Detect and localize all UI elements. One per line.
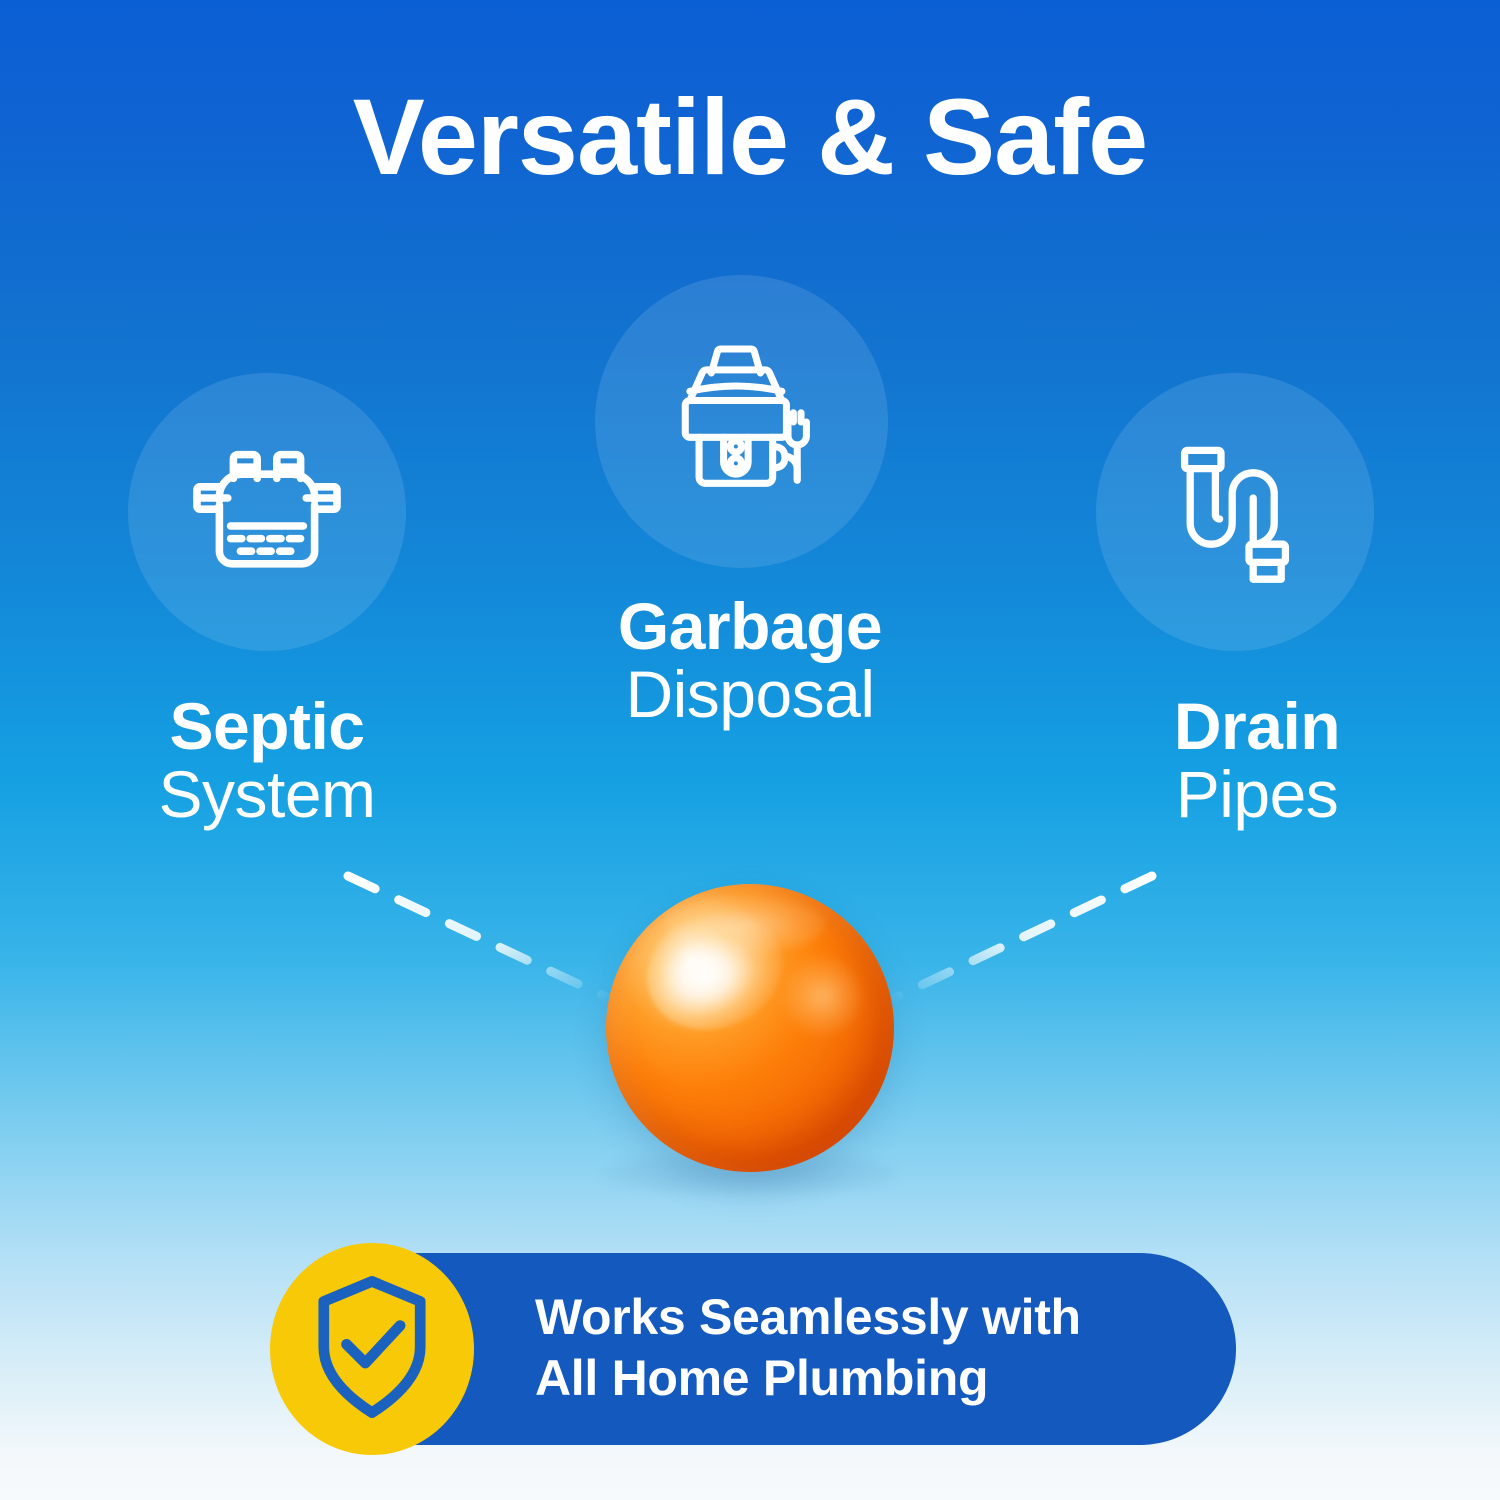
connector-septic bbox=[348, 876, 612, 1000]
connector-drain bbox=[890, 876, 1152, 1000]
feature-label-drain-pipes: Drain Pipes bbox=[1027, 693, 1487, 829]
feature-label-drain-line1: Drain bbox=[1027, 693, 1487, 761]
septic-tank-icon bbox=[183, 428, 351, 596]
banner-text-line2: All Home Plumbing bbox=[535, 1348, 1195, 1409]
garbage-disposal-icon bbox=[650, 330, 834, 514]
feature-label-drain-line2: Pipes bbox=[1027, 761, 1487, 829]
orange-gel-pod bbox=[606, 884, 894, 1172]
shield-check-icon bbox=[304, 1272, 440, 1427]
feature-label-septic-line1: Septic bbox=[37, 693, 497, 761]
banner-text: Works Seamlessly with All Home Plumbing bbox=[535, 1287, 1195, 1409]
page-title: Versatile & Safe bbox=[0, 78, 1500, 197]
feature-label-septic-line2: System bbox=[37, 761, 497, 829]
icon-circle-garbage-disposal bbox=[595, 275, 888, 568]
banner-badge bbox=[270, 1243, 474, 1455]
feature-label-garbage-line2: Disposal bbox=[520, 661, 980, 729]
drain-pipe-s-trap-icon bbox=[1151, 428, 1319, 596]
feature-label-garbage-disposal: Garbage Disposal bbox=[520, 593, 980, 729]
banner-text-line1: Works Seamlessly with bbox=[535, 1287, 1195, 1348]
icon-circle-drain-pipes bbox=[1096, 373, 1374, 651]
versatile-and-safe-infographic: Versatile & Safe bbox=[0, 0, 1500, 1500]
feature-label-garbage-line1: Garbage bbox=[520, 593, 980, 661]
feature-label-septic: Septic System bbox=[37, 693, 497, 829]
icon-circle-septic bbox=[128, 373, 406, 651]
compatibility-banner: Works Seamlessly with All Home Plumbing bbox=[270, 1243, 1236, 1455]
